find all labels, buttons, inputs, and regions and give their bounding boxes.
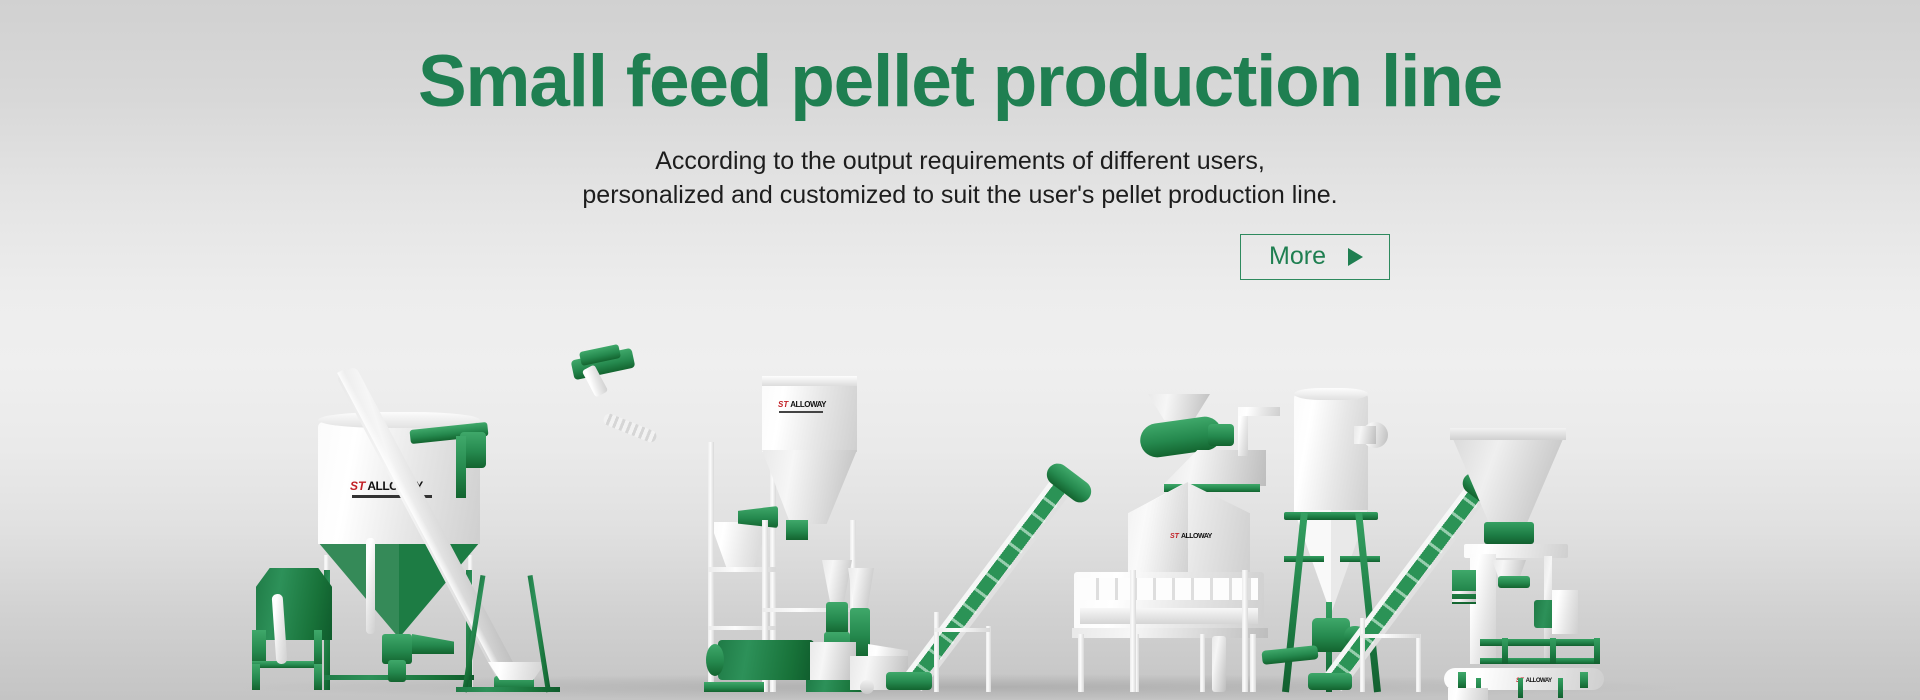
logo-st: ST bbox=[1170, 533, 1179, 540]
pellet-mill-logo: STALLOWAY bbox=[778, 401, 826, 409]
banner-subtitle: According to the output requirements of … bbox=[0, 144, 1920, 212]
play-triangle-icon bbox=[1348, 248, 1363, 266]
logo-alloway: ALLOWAY bbox=[790, 401, 826, 409]
more-button[interactable]: More bbox=[1240, 234, 1390, 280]
packing-hopper bbox=[1450, 432, 1566, 524]
subtitle-line-1: According to the output requirements of … bbox=[0, 144, 1920, 178]
logo-alloway: ALLOWAY bbox=[1181, 533, 1212, 540]
banner-text-block: Small feed pellet production line Accord… bbox=[0, 0, 1920, 280]
logo-st: ST bbox=[778, 401, 788, 409]
logo-st: ST bbox=[350, 480, 365, 492]
more-button-label: More bbox=[1269, 244, 1326, 269]
pellet-mill-surge-bin bbox=[762, 380, 857, 452]
subtitle-line-2: personalized and customized to suit the … bbox=[0, 178, 1920, 212]
cooler-logo: STALLOWAY bbox=[1170, 533, 1212, 540]
more-button-row: More bbox=[0, 234, 1920, 280]
page-title: Small feed pellet production line bbox=[0, 0, 1920, 122]
pellet-mill-motor bbox=[718, 640, 814, 680]
machine-packing-scale: STALLOWAY bbox=[1430, 402, 1670, 692]
logo-alloway: ALLOWAY bbox=[1526, 678, 1552, 684]
